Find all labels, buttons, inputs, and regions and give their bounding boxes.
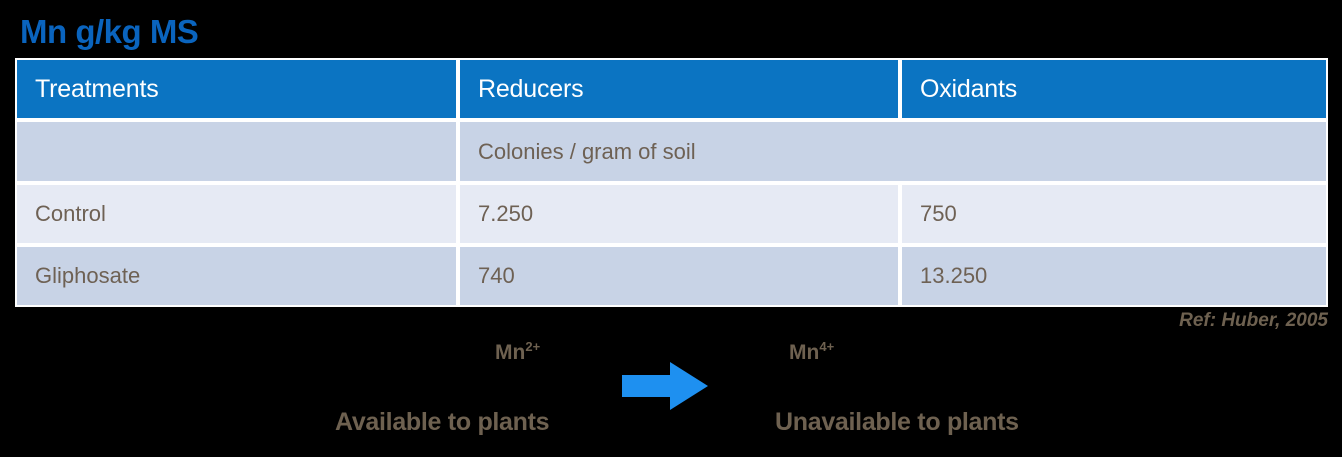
- right-arrow-icon: [622, 362, 708, 410]
- table-body: Colonies / gram of soil Control 7.250 75…: [15, 120, 1328, 307]
- cell-treatment: Control: [15, 183, 458, 245]
- ion-charge: 4+: [819, 339, 834, 354]
- table-row: Control 7.250 750: [15, 183, 1328, 245]
- caption-available-to-plants: Available to plants: [335, 408, 549, 437]
- unit-row-label: Colonies / gram of soil: [458, 120, 1328, 183]
- table-header: Treatments Reducers Oxidants: [15, 58, 1328, 120]
- results-table: Treatments Reducers Oxidants Colonies / …: [15, 58, 1328, 307]
- column-header-oxidants: Oxidants: [900, 58, 1328, 120]
- column-header-treatments: Treatments: [15, 58, 458, 120]
- table-header-row: Treatments Reducers Oxidants: [15, 58, 1328, 120]
- cell-reducers: 7.250: [458, 183, 900, 245]
- ion-element-symbol: Mn: [495, 341, 525, 364]
- cell-reducers: 740: [458, 245, 900, 307]
- unit-row-empty-cell: [15, 120, 458, 183]
- column-header-reducers: Reducers: [458, 58, 900, 120]
- cell-oxidants: 13.250: [900, 245, 1328, 307]
- page-title: Mn g/kg MS: [20, 12, 198, 52]
- reference-citation: Ref: Huber, 2005: [1179, 310, 1328, 332]
- table-row-unit: Colonies / gram of soil: [15, 120, 1328, 183]
- mn-oxidation-diagram: Mn2+ Mn4+ Available to plants Unavailabl…: [0, 330, 1342, 457]
- cell-treatment: Gliphosate: [15, 245, 458, 307]
- ion-label-mn4: Mn4+: [789, 341, 834, 365]
- ion-element-symbol: Mn: [789, 341, 819, 364]
- ion-charge: 2+: [525, 339, 540, 354]
- table-row: Gliphosate 740 13.250: [15, 245, 1328, 307]
- caption-unavailable-to-plants: Unavailable to plants: [775, 408, 1019, 437]
- cell-oxidants: 750: [900, 183, 1328, 245]
- ion-label-mn2: Mn2+: [495, 341, 540, 365]
